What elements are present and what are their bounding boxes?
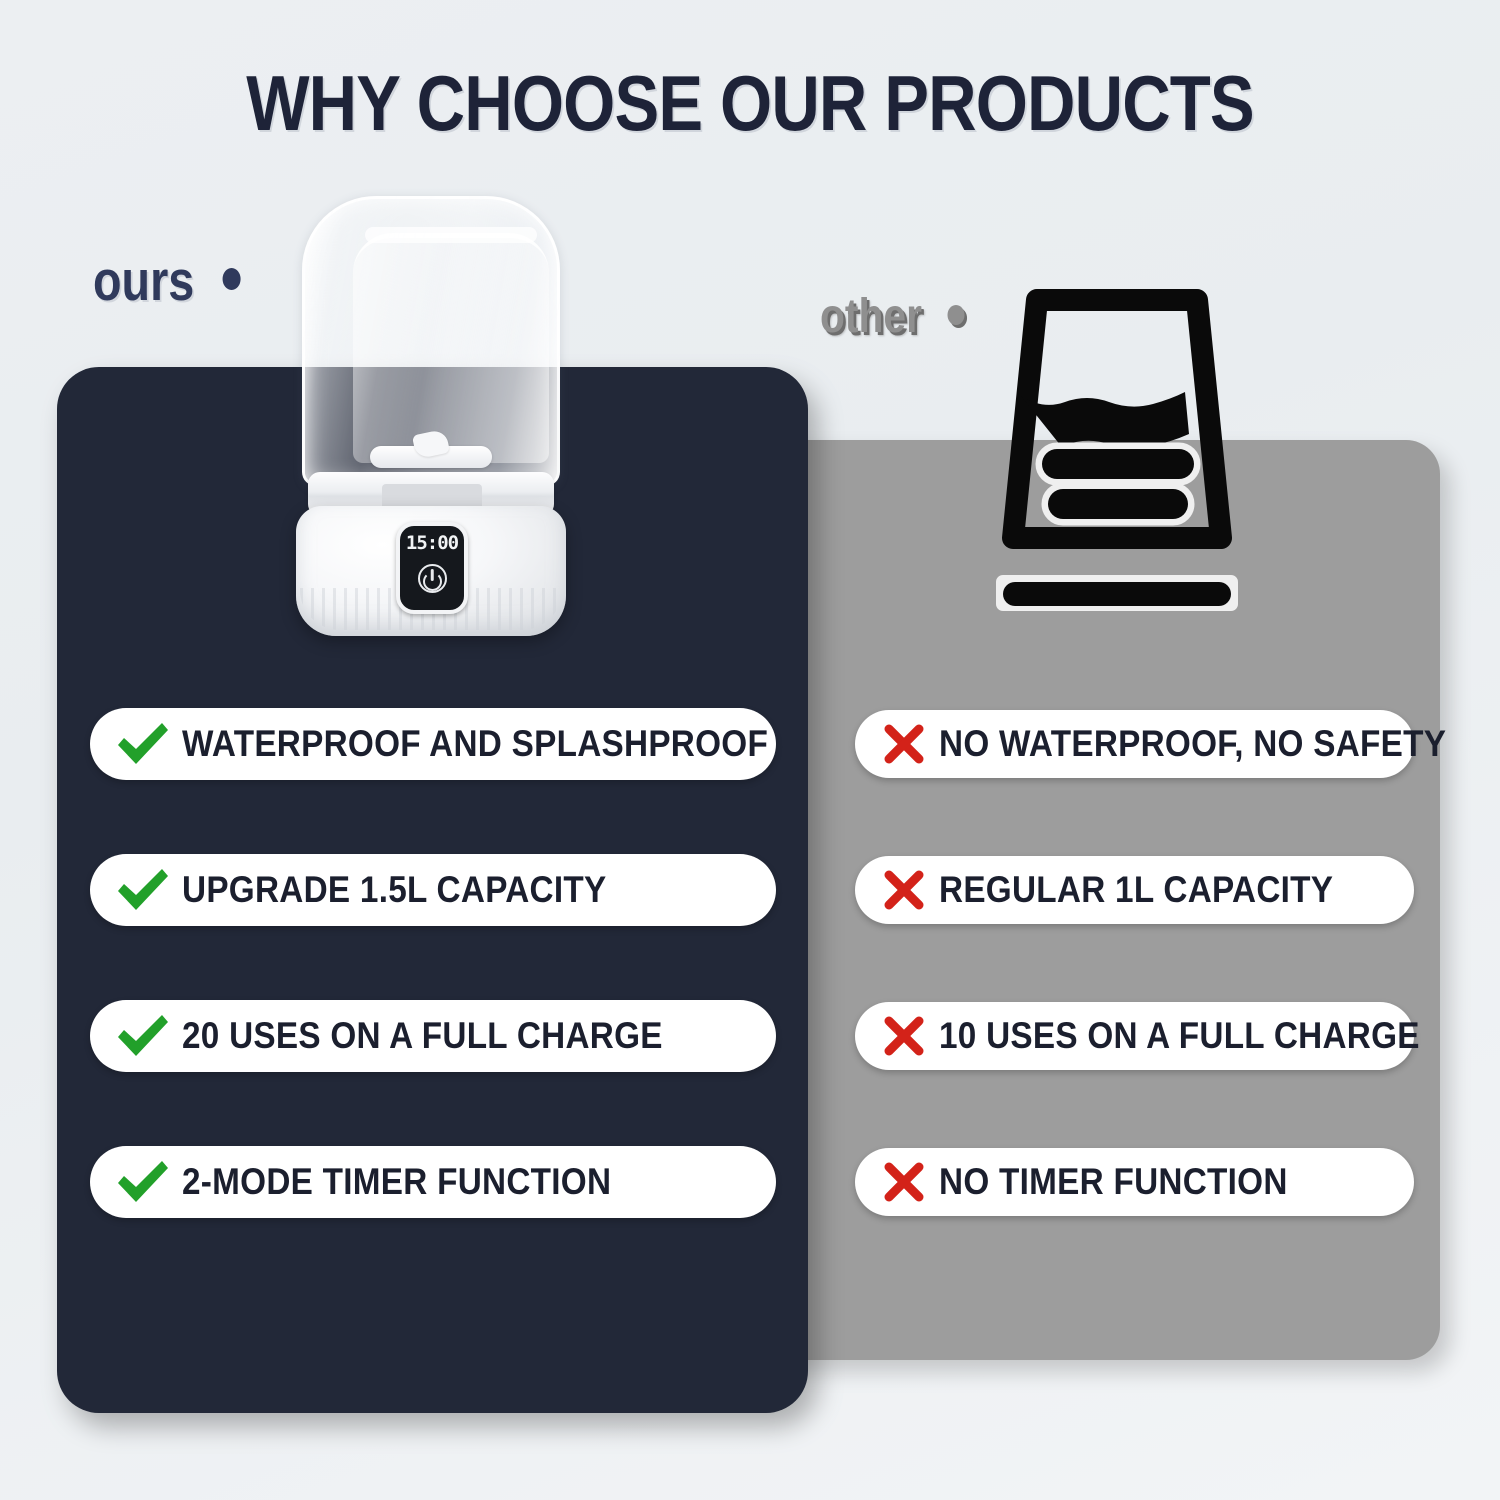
other-feature-4[interactable]: NO TIMER FUNCTION — [855, 1148, 1414, 1216]
other-label: other — [820, 289, 965, 344]
page-title: WHY CHOOSE OUR PRODUCTS — [105, 58, 1395, 149]
other-feature-4-label: NO TIMER FUNCTION — [939, 1161, 1288, 1203]
other-product-image — [985, 286, 1249, 616]
timer-display: 15:00 — [406, 534, 458, 553]
other-feature-2-label: REGULAR 1L CAPACITY — [939, 869, 1333, 911]
ours-feature-2-label: UPGRADE 1.5L CAPACITY — [182, 869, 606, 911]
cross-icon — [869, 1014, 939, 1058]
ours-feature-3-label: 20 USES ON A FULL CHARGE — [182, 1015, 663, 1057]
ours-feature-2[interactable]: UPGRADE 1.5L CAPACITY — [90, 854, 776, 926]
other-feature-1-label: NO WATERPROOF, NO SAFETY — [939, 723, 1446, 765]
check-icon — [104, 721, 182, 767]
ours-feature-1-label: WATERPROOF AND SPLASHPROOF — [182, 723, 768, 765]
blender-jar-inner — [353, 233, 549, 463]
other-feature-1[interactable]: NO WATERPROOF, NO SAFETY — [855, 710, 1414, 778]
blender-blades-icon — [370, 432, 492, 468]
check-icon — [104, 867, 182, 913]
ours-feature-4[interactable]: 2-MODE TIMER FUNCTION — [90, 1146, 776, 1218]
blender-lid — [365, 227, 537, 243]
ours-label: ours — [93, 248, 240, 314]
generic-cup-icon — [985, 286, 1249, 616]
power-icon[interactable] — [418, 564, 447, 593]
other-label-text: other — [820, 290, 922, 343]
ours-label-text: ours — [93, 249, 194, 313]
check-icon — [104, 1159, 182, 1205]
blender-control-panel[interactable]: 15:00 — [396, 522, 468, 614]
ours-product-image: 15:00 — [286, 196, 576, 636]
ours-feature-1[interactable]: WATERPROOF AND SPLASHPROOF — [90, 708, 776, 780]
ours-feature-4-label: 2-MODE TIMER FUNCTION — [182, 1161, 611, 1203]
cross-icon — [869, 868, 939, 912]
ours-feature-3[interactable]: 20 USES ON A FULL CHARGE — [90, 1000, 776, 1072]
cross-icon — [869, 1160, 939, 1204]
cross-icon — [869, 722, 939, 766]
other-feature-3-label: 10 USES ON A FULL CHARGE — [939, 1015, 1420, 1057]
other-feature-3[interactable]: 10 USES ON A FULL CHARGE — [855, 1002, 1414, 1070]
check-icon — [104, 1013, 182, 1059]
ours-label-dot — [222, 268, 240, 290]
other-feature-2[interactable]: REGULAR 1L CAPACITY — [855, 856, 1414, 924]
other-label-dot — [948, 305, 965, 325]
